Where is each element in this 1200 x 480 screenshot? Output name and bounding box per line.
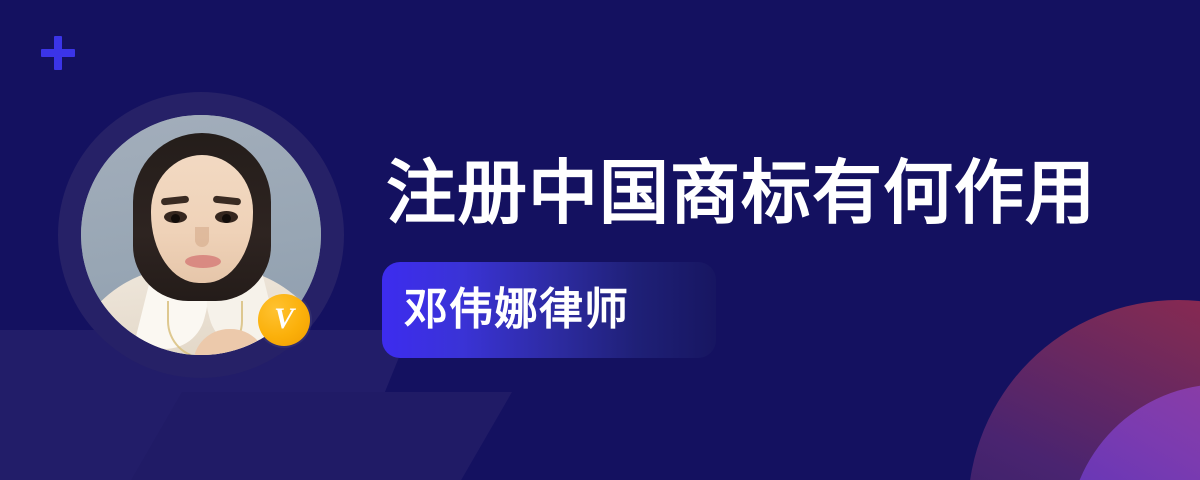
page-title: 注册中国商标有何作用	[386, 158, 1096, 228]
avatar: V	[58, 92, 344, 378]
verified-badge-icon: V	[258, 294, 310, 346]
plus-icon	[41, 36, 75, 70]
portrait-pupil-left	[171, 214, 180, 223]
video-cover-banner: V 注册中国商标有何作用 邓伟娜律师	[0, 0, 1200, 480]
portrait-nose	[195, 227, 209, 247]
portrait-lips	[185, 255, 221, 268]
verified-badge-glyph: V	[274, 304, 294, 334]
presenter-name-label: 邓伟娜律师	[404, 288, 629, 332]
presenter-name-pill: 邓伟娜律师	[382, 262, 716, 358]
portrait-pupil-right	[222, 214, 231, 223]
